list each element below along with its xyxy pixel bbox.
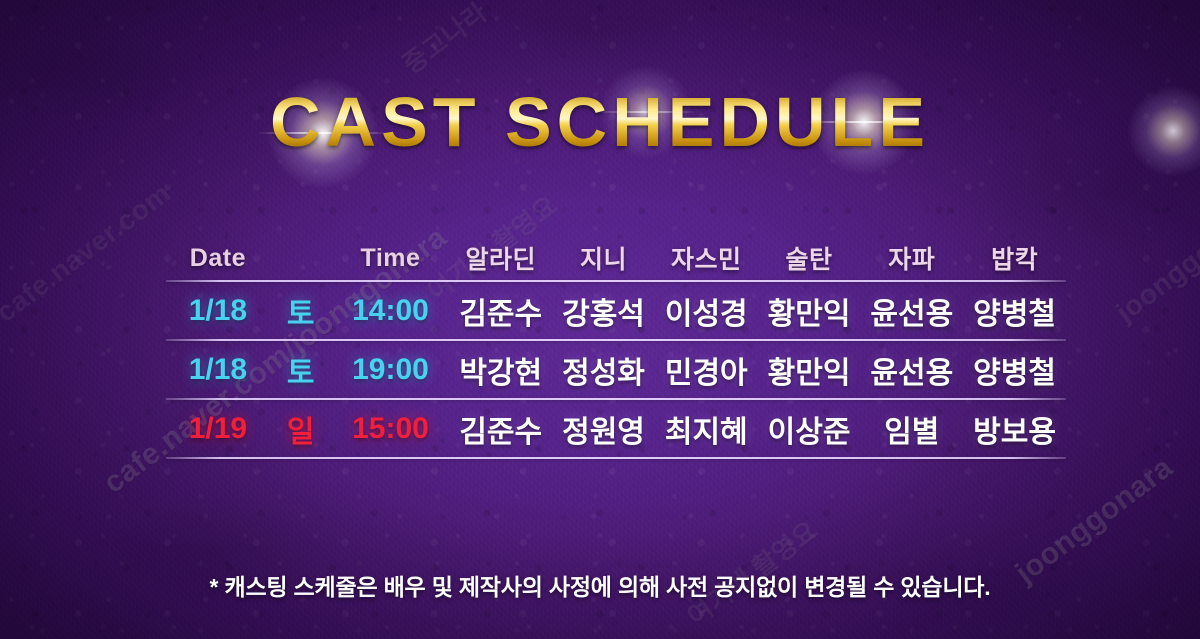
disclaimer-note: * 캐스팅 스케줄은 배우 및 제작사의 사정에 의해 사전 공지없이 변경될 … bbox=[0, 568, 1200, 602]
cell-jafar: 윤선용 bbox=[860, 348, 963, 392]
schedule-table: Date Time 알라딘 지니 자스민 술탄 자파 밥칵 1/18 토 14:… bbox=[166, 236, 1066, 459]
cell-aladdin: 김준수 bbox=[449, 289, 552, 333]
page-title-text: CAST SCHEDULE bbox=[270, 82, 930, 162]
cell-date: 1/18 bbox=[166, 353, 270, 387]
cell-time: 15:00 bbox=[332, 412, 450, 446]
table-row: 1/18 토 14:00 김준수 강홍석 이성경 황만익 윤선용 양병철 bbox=[166, 282, 1066, 339]
table-row: 1/18 토 19:00 박강현 정성화 민경아 황만익 윤선용 양병철 bbox=[166, 341, 1066, 398]
column-header-jasmine: 자스민 bbox=[655, 240, 758, 276]
cell-day: 토 bbox=[270, 348, 332, 392]
cell-genie: 정원영 bbox=[552, 407, 655, 451]
cell-date: 1/19 bbox=[166, 412, 270, 446]
cell-sultan: 황만익 bbox=[758, 348, 861, 392]
cell-jasmine: 민경아 bbox=[655, 348, 758, 392]
watermark-right-upper: joonggonara bbox=[1110, 198, 1200, 329]
cell-day: 토 bbox=[270, 289, 332, 333]
table-divider bbox=[166, 457, 1066, 459]
cast-schedule-poster: 중고나라 여기에 촬영요 cafe.naver.com/joonggonara … bbox=[0, 0, 1200, 639]
cell-sultan: 이상준 bbox=[758, 407, 861, 451]
watermark-left-upper: cafe.naver.com bbox=[0, 177, 177, 329]
column-header-time: Time bbox=[332, 244, 450, 273]
table-row: 1/19 일 15:00 김준수 정원영 최지혜 이상준 임별 방보용 bbox=[166, 400, 1066, 457]
cell-time: 19:00 bbox=[332, 353, 450, 387]
cell-sultan: 황만익 bbox=[758, 289, 861, 333]
cell-babkak: 양병철 bbox=[963, 289, 1066, 333]
cell-time: 14:00 bbox=[332, 294, 450, 328]
cell-babkak: 양병철 bbox=[963, 348, 1066, 392]
page-title: CAST SCHEDULE bbox=[0, 82, 1200, 174]
cell-jasmine: 이성경 bbox=[655, 289, 758, 333]
column-header-aladdin: 알라딘 bbox=[449, 240, 552, 276]
watermark-top: 중고나라 bbox=[394, 0, 494, 81]
cell-date: 1/18 bbox=[166, 294, 270, 328]
cell-aladdin: 박강현 bbox=[449, 348, 552, 392]
cell-genie: 강홍석 bbox=[552, 289, 655, 333]
cell-aladdin: 김준수 bbox=[449, 407, 552, 451]
cell-genie: 정성화 bbox=[552, 348, 655, 392]
column-header-date: Date bbox=[166, 244, 270, 273]
cell-jasmine: 최지혜 bbox=[655, 407, 758, 451]
column-header-sultan: 술탄 bbox=[758, 240, 861, 276]
table-header-row: Date Time 알라딘 지니 자스민 술탄 자파 밥칵 bbox=[166, 236, 1066, 280]
column-header-genie: 지니 bbox=[552, 240, 655, 276]
cell-jafar: 윤선용 bbox=[860, 289, 963, 333]
cell-day: 일 bbox=[270, 407, 332, 451]
column-header-babkak: 밥칵 bbox=[963, 240, 1066, 276]
column-header-jafar: 자파 bbox=[860, 240, 963, 276]
cell-jafar: 임별 bbox=[860, 407, 963, 451]
cell-babkak: 방보용 bbox=[963, 407, 1066, 451]
